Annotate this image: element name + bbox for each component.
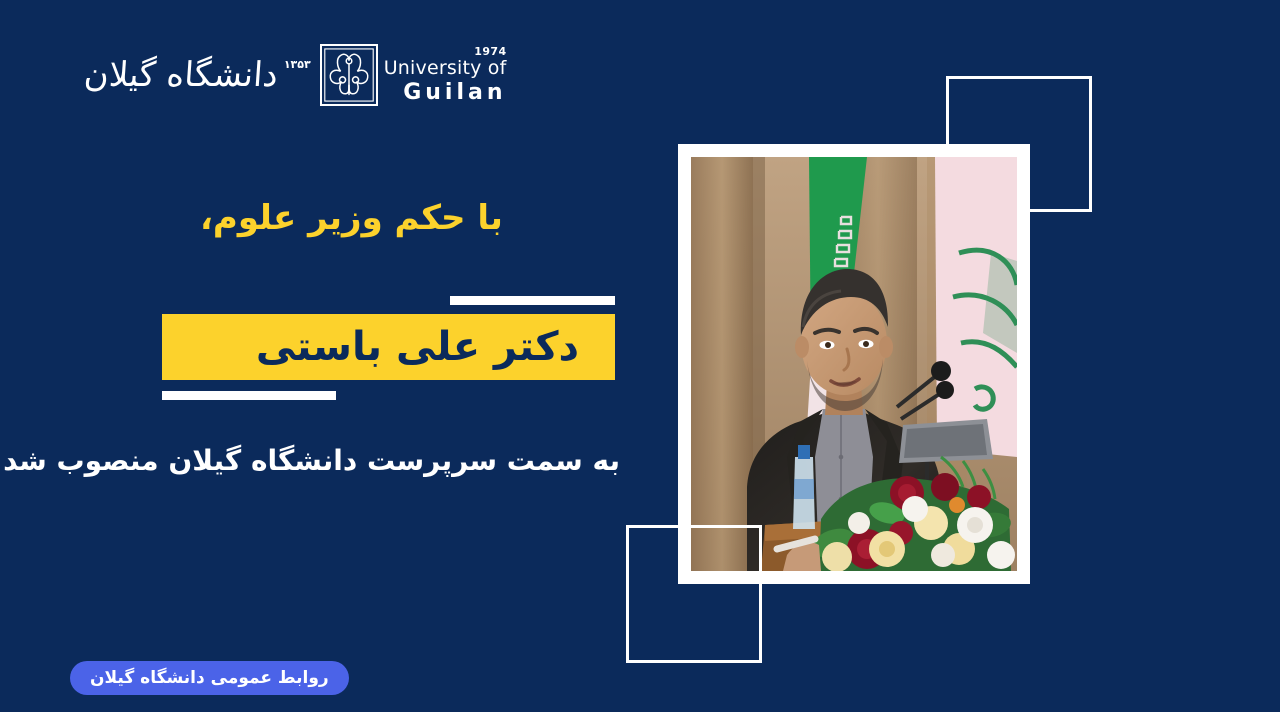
headline-kicker: با حکم وزیر علوم، — [200, 198, 620, 239]
person-name: دکتر علی باستی — [256, 327, 579, 367]
logo-name-fa: دانشگاه گیلان — [83, 58, 281, 92]
university-logo: دانشگاه گیلان ۱۳۵۳ 1974 University of Gu… — [84, 44, 513, 106]
headline-subtitle: به سمت سرپرست دانشگاه گیلان منصوب شد — [100, 443, 620, 479]
name-highlight-bar: دکتر علی باستی — [162, 314, 615, 380]
rule-above-name — [450, 296, 615, 305]
photo-frame — [678, 144, 1030, 584]
logo-name-en-line2: Guilan — [384, 81, 507, 104]
logo-name-en-line1: University of — [384, 59, 507, 79]
rule-below-name — [162, 391, 336, 400]
speaker-photo — [691, 157, 1017, 571]
logo-year-fa: ۱۳۵۳ — [280, 58, 316, 71]
decorative-square-bottom-left — [626, 525, 762, 663]
butterfly-emblem-icon — [320, 44, 378, 106]
logo-name-en: 1974 University of Guilan — [382, 46, 513, 104]
public-relations-badge: روابط عمومی دانشگاه گیلان — [70, 661, 349, 695]
poster-canvas: دانشگاه گیلان ۱۳۵۳ 1974 University of Gu… — [0, 0, 1280, 712]
